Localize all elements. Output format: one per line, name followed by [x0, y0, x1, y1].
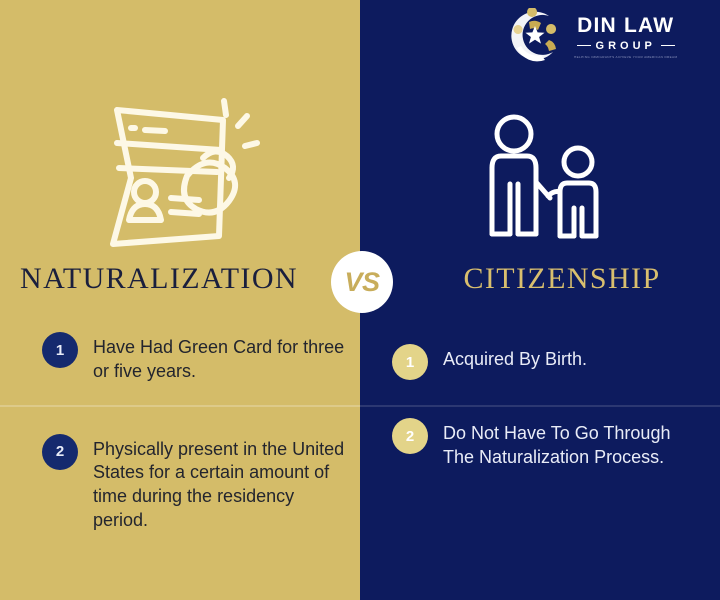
logo-rule-right	[661, 45, 675, 46]
list-item-number-badge: 1	[392, 344, 428, 380]
citizenship-list: 1 Acquired By Birth. 2 Do Not Have To Go…	[392, 344, 704, 492]
list-item-text: Physically present in the United States …	[93, 434, 347, 533]
citizenship-panel-background	[360, 0, 720, 600]
left-section-title: NATURALIZATION	[0, 262, 318, 296]
list-item-number: 1	[56, 342, 64, 359]
list-item-text: Acquired By Birth.	[443, 344, 587, 380]
brand-logo[interactable]: DIN LAW GROUP HELPING IMMIGRANTS ACHIEVE…	[505, 8, 677, 66]
list-item-number-badge: 1	[42, 332, 78, 368]
infographic-root: DIN LAW GROUP HELPING IMMIGRANTS ACHIEVE…	[0, 0, 720, 600]
list-item-text: Have Had Green Card for three or five ye…	[93, 332, 347, 384]
logo-rule-left	[577, 45, 591, 46]
crescent-star-people-emblem-icon	[505, 8, 565, 66]
brand-tagline: HELPING IMMIGRANTS ACHIEVE YOUR AMERICAN…	[574, 55, 677, 59]
brand-name: DIN LAW	[577, 15, 674, 37]
list-item-number: 2	[406, 428, 414, 445]
list-item: 2 Do Not Have To Go Through The Naturali…	[392, 418, 704, 470]
brand-group: GROUP	[596, 40, 656, 52]
list-item-text: Do Not Have To Go Through The Naturaliza…	[443, 418, 704, 470]
stamped-document-id-card-icon	[95, 88, 270, 253]
list-item: 1 Acquired By Birth.	[392, 344, 704, 380]
list-item-number: 1	[406, 354, 414, 371]
list-item: 1 Have Had Green Card for three or five …	[42, 332, 347, 384]
list-item-number-badge: 2	[42, 434, 78, 470]
naturalization-list: 1 Have Had Green Card for three or five …	[42, 332, 347, 555]
versus-badge: VS	[331, 251, 393, 313]
right-section-title: CITIZENSHIP	[404, 262, 720, 296]
list-item: 2 Physically present in the United State…	[42, 434, 347, 533]
brand-logo-text: DIN LAW GROUP HELPING IMMIGRANTS ACHIEVE…	[574, 15, 677, 58]
adult-and-child-family-icon	[470, 112, 610, 250]
brand-group-row: GROUP	[577, 40, 675, 52]
versus-label: VS	[344, 267, 379, 298]
list-item-number-badge: 2	[392, 418, 428, 454]
list-item-number: 2	[56, 443, 64, 460]
